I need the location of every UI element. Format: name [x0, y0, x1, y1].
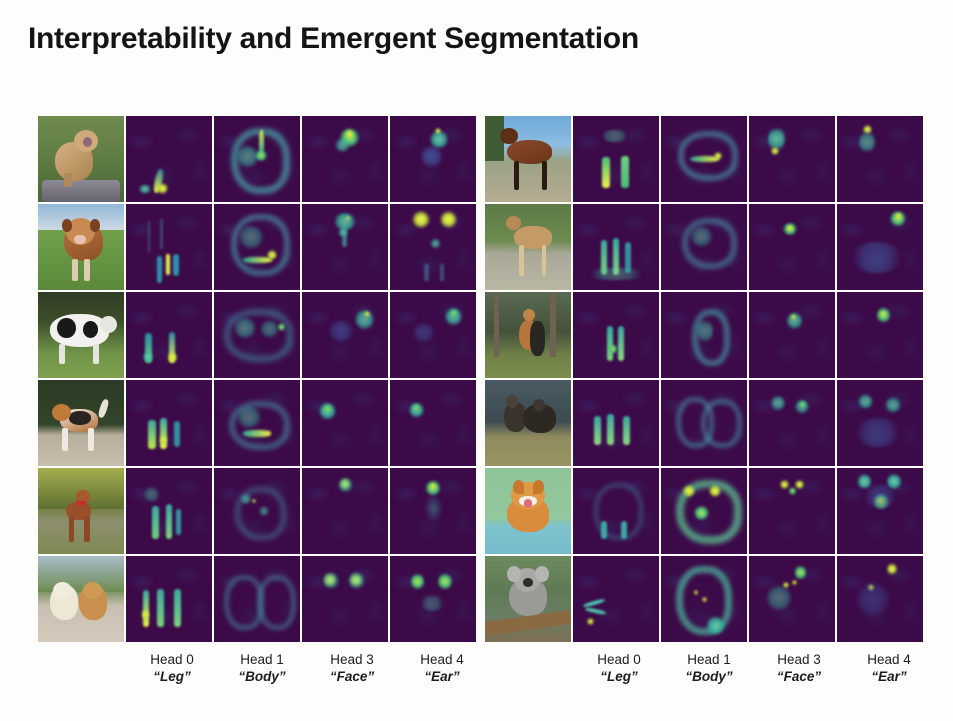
- attention-map-head0-leg-row1: [126, 116, 212, 202]
- head-label-right-4-name: Head 4: [845, 652, 933, 668]
- head-label-left-4-name: Head 4: [398, 652, 486, 668]
- source-image-two-labrador-puppies: [38, 556, 124, 642]
- head-label-right-0-name: Head 0: [575, 652, 663, 668]
- attention-map-head0-leg-row4r: [573, 380, 659, 466]
- head-label-left-0: Head 0 “Leg”: [128, 652, 216, 685]
- source-image-brown-cow-in-pasture: [38, 204, 124, 290]
- attention-map-head1-body-row5: [214, 468, 300, 554]
- attention-map-head3-face-row3r: [749, 292, 835, 378]
- attention-map-head1-body-row5r: [661, 468, 747, 554]
- attention-map-head4-ear-row1: [390, 116, 476, 202]
- figure-half-left: [38, 116, 480, 645]
- attention-map-head3-face-row5: [302, 468, 388, 554]
- attention-map-head1-body-row4: [214, 380, 300, 466]
- source-image-two-dark-deer: [485, 380, 571, 466]
- attention-map-head0-leg-row2: [126, 204, 212, 290]
- attention-map-head4-ear-row6r: [837, 556, 923, 642]
- head-label-left-1: Head 1 “Body”: [218, 652, 306, 685]
- attention-map-head4-ear-row6: [390, 556, 476, 642]
- head-label-left-3-name: Head 3: [308, 652, 396, 668]
- head-label-left-3-concept: “Face”: [308, 669, 396, 685]
- attention-map-head0-leg-row4: [126, 380, 212, 466]
- head-label-right-1-concept: “Body”: [665, 669, 753, 685]
- attention-map-head3-face-row2: [302, 204, 388, 290]
- attention-map-head0-leg-row6r: [573, 556, 659, 642]
- head-label-left-1-concept: “Body”: [218, 669, 306, 685]
- attention-map-head3-face-row5r: [749, 468, 835, 554]
- attention-map-head0-leg-row1r: [573, 116, 659, 202]
- attention-map-head1-body-row3: [214, 292, 300, 378]
- attention-map-head1-body-row6r: [661, 556, 747, 642]
- attention-map-head4-ear-row3r: [837, 292, 923, 378]
- head-label-left-3: Head 3 “Face”: [308, 652, 396, 685]
- attention-map-head1-body-row1: [214, 116, 300, 202]
- head-label-right-3-concept: “Face”: [755, 669, 843, 685]
- source-image-bay-horse-on-road: [485, 116, 571, 202]
- head-label-right-1-name: Head 1: [665, 652, 753, 668]
- source-image-koala-on-branch: [485, 556, 571, 642]
- attention-map-head4-ear-row1r: [837, 116, 923, 202]
- attention-map-head0-leg-row6: [126, 556, 212, 642]
- head-label-right-0: Head 0 “Leg”: [575, 652, 663, 685]
- attention-map-head4-ear-row4r: [837, 380, 923, 466]
- page-title: Interpretability and Emergent Segmentati…: [28, 22, 639, 56]
- source-image-macaque-monkey-on-log: [38, 116, 124, 202]
- attention-map-head0-leg-row5: [126, 468, 212, 554]
- head-labels-right: Head 0 “Leg” Head 1 “Body” Head 3 “Face”…: [575, 652, 933, 685]
- attention-map-head3-face-row4: [302, 380, 388, 466]
- source-image-deer-in-forest: [485, 292, 571, 378]
- attention-map-head0-leg-row3r: [573, 292, 659, 378]
- head-label-left-0-name: Head 0: [128, 652, 216, 668]
- attention-map-head4-ear-row4: [390, 380, 476, 466]
- source-image-beagle-dog-standing: [38, 380, 124, 466]
- head-label-right-0-concept: “Leg”: [575, 669, 663, 685]
- attention-map-head1-body-row6: [214, 556, 300, 642]
- attention-map-head4-ear-row2r: [837, 204, 923, 290]
- head-label-right-4: Head 4 “Ear”: [845, 652, 933, 685]
- attention-map-head4-ear-row2: [390, 204, 476, 290]
- attention-map-head3-face-row6: [302, 556, 388, 642]
- head-label-right-1: Head 1 “Body”: [665, 652, 753, 685]
- attention-map-head1-body-row4r: [661, 380, 747, 466]
- attention-map-head1-body-row2r: [661, 204, 747, 290]
- attention-map-head1-body-row3r: [661, 292, 747, 378]
- attention-map-head3-face-row4r: [749, 380, 835, 466]
- attention-map-head3-face-row1r: [749, 116, 835, 202]
- head-label-left-1-name: Head 1: [218, 652, 306, 668]
- source-image-deer-on-roadside: [485, 204, 571, 290]
- figure-half-right: [485, 116, 924, 645]
- source-image-shiba-inu-puppy: [485, 468, 571, 554]
- attention-map-head0-leg-row5r: [573, 468, 659, 554]
- head-label-left-4-concept: “Ear”: [398, 669, 486, 685]
- head-label-right-3: Head 3 “Face”: [755, 652, 843, 685]
- attention-map-head1-body-row2: [214, 204, 300, 290]
- attention-map-head4-ear-row3: [390, 292, 476, 378]
- head-label-right-4-concept: “Ear”: [845, 669, 933, 685]
- head-label-left-4: Head 4 “Ear”: [398, 652, 486, 685]
- attention-grid-left: [38, 116, 480, 642]
- attention-map-head1-body-row1r: [661, 116, 747, 202]
- attention-map-head4-ear-row5: [390, 468, 476, 554]
- attention-map-head0-leg-row2r: [573, 204, 659, 290]
- head-label-right-3-name: Head 3: [755, 652, 843, 668]
- source-image-brown-dog-on-path: [38, 468, 124, 554]
- attention-map-head3-face-row2r: [749, 204, 835, 290]
- attention-map-head3-face-row6r: [749, 556, 835, 642]
- attention-map-head4-ear-row5r: [837, 468, 923, 554]
- attention-map-head3-face-row3: [302, 292, 388, 378]
- slide-root: Interpretability and Emergent Segmentati…: [0, 0, 953, 721]
- head-labels-left: Head 0 “Leg” Head 1 “Body” Head 3 “Face”…: [128, 652, 486, 685]
- segmentation-figure: [38, 116, 924, 645]
- attention-grid-right: [485, 116, 924, 642]
- attention-map-head3-face-row1: [302, 116, 388, 202]
- attention-map-head0-leg-row3: [126, 292, 212, 378]
- source-image-holstein-cow-in-field: [38, 292, 124, 378]
- head-label-left-0-concept: “Leg”: [128, 669, 216, 685]
